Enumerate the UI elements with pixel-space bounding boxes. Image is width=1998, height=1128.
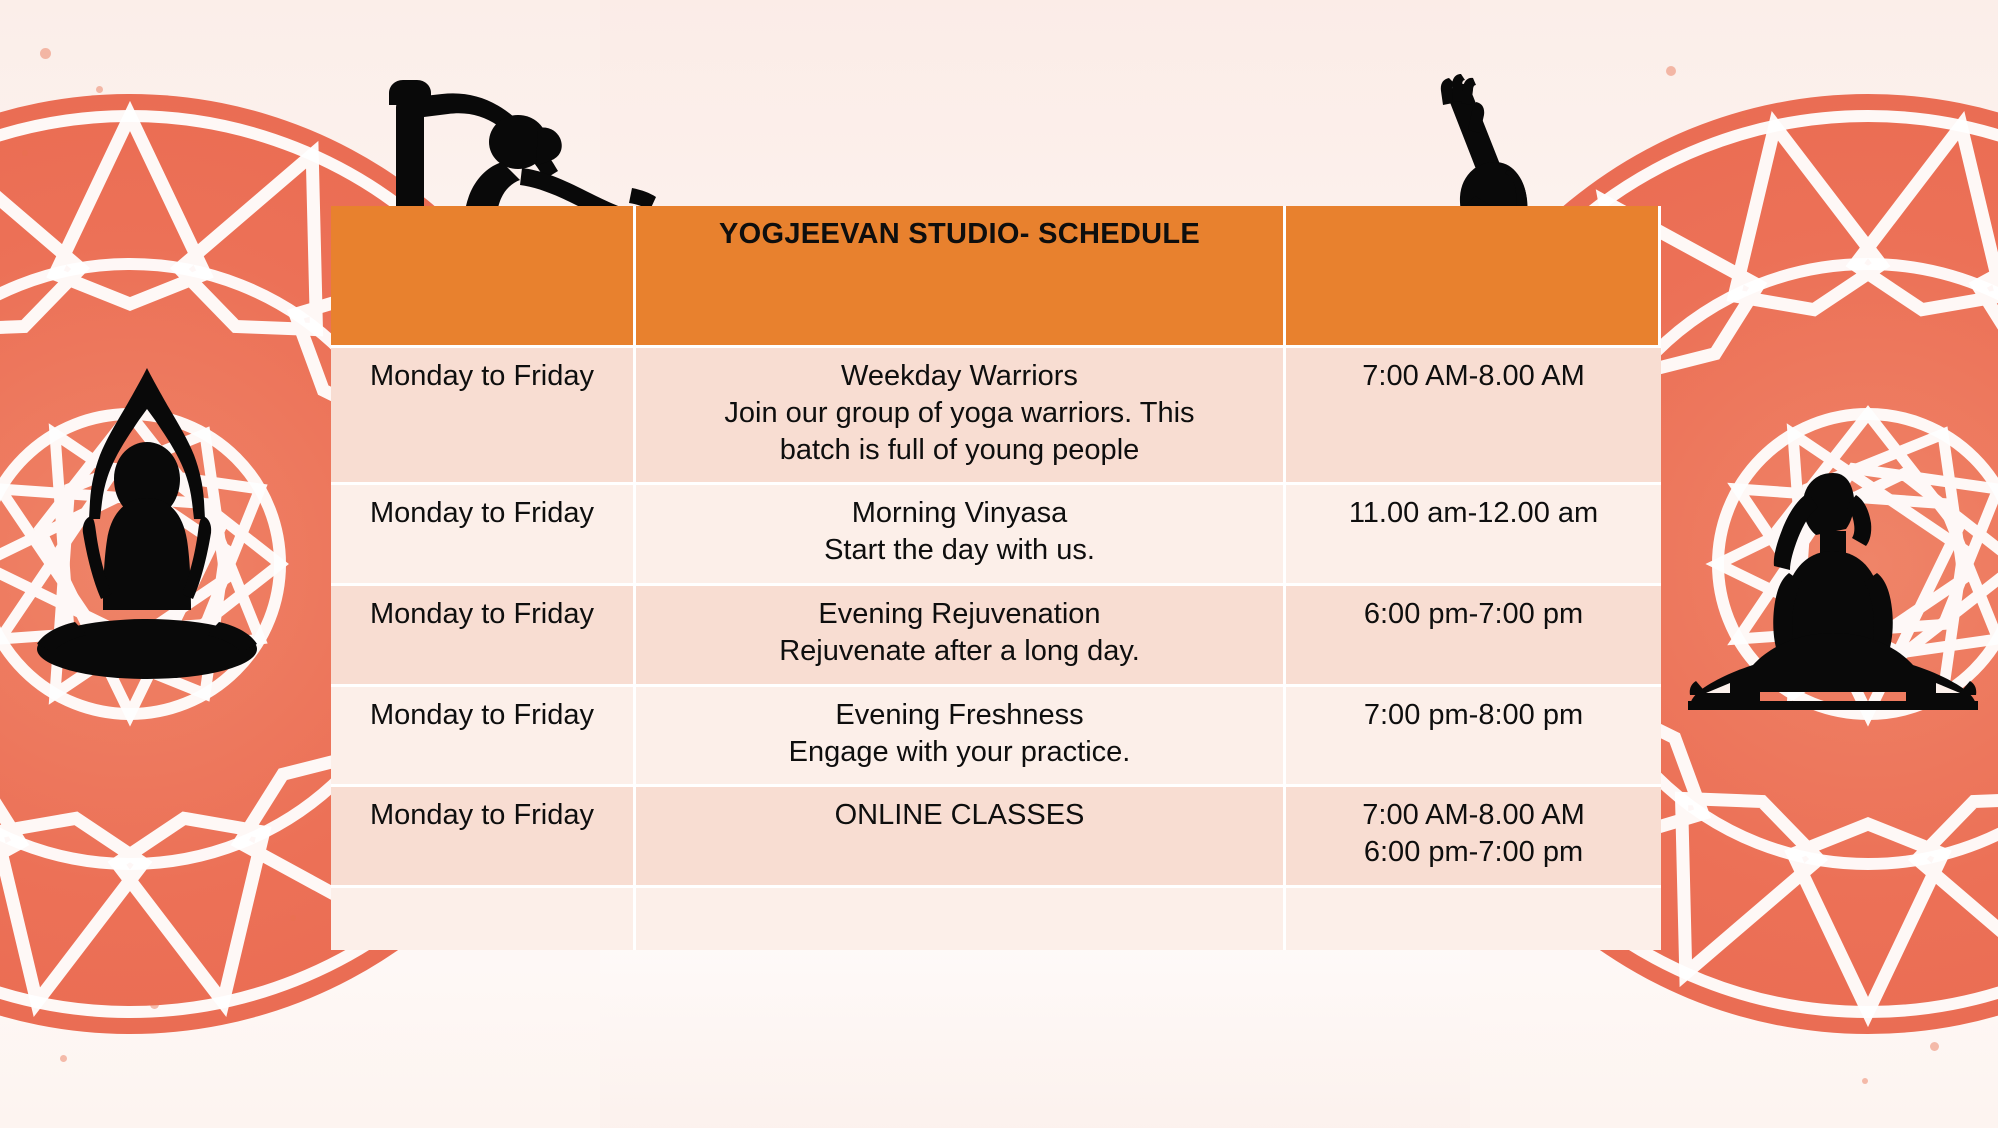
- table-row-empty: [331, 888, 1661, 950]
- class-description-line1: Engage with your practice.: [644, 734, 1275, 771]
- class-name: Morning Vinyasa: [644, 495, 1275, 532]
- row-time: 7:00 AM-8.00 AM 6:00 pm-7:00 pm: [1286, 787, 1661, 888]
- row-description: Evening Rejuvenation Rejuvenate after a …: [636, 586, 1286, 687]
- schedule-poster: YOGJEEVAN STUDIO- SCHEDULE Monday to Fri…: [0, 0, 1998, 1128]
- time-primary: 11.00 am-12.00 am: [1294, 495, 1653, 532]
- time-primary: 7:00 AM-8.00 AM: [1294, 358, 1653, 395]
- row-day: Monday to Friday: [331, 348, 636, 485]
- row-time: 7:00 pm-8:00 pm: [1286, 687, 1661, 788]
- table-row: Monday to Friday ONLINE CLASSES 7:00 AM-…: [331, 787, 1661, 888]
- table-row: Monday to Friday Weekday Warriors Join o…: [331, 348, 1661, 485]
- row-description: Weekday Warriors Join our group of yoga …: [636, 348, 1286, 485]
- row-time: 6:00 pm-7:00 pm: [1286, 586, 1661, 687]
- row-time: 7:00 AM-8.00 AM: [1286, 348, 1661, 485]
- table-row: Monday to Friday Morning Vinyasa Start t…: [331, 485, 1661, 586]
- class-name: Weekday Warriors: [644, 358, 1275, 395]
- row-day: [331, 888, 636, 950]
- time-primary: 7:00 pm-8:00 pm: [1294, 697, 1653, 734]
- class-description-line1: Rejuvenate after a long day.: [644, 633, 1275, 670]
- speckle-dot: [1666, 66, 1676, 76]
- row-time: 11.00 am-12.00 am: [1286, 485, 1661, 586]
- class-description-line2: batch is full of young people: [644, 432, 1275, 469]
- table-row: Monday to Friday Evening Rejuvenation Re…: [331, 586, 1661, 687]
- speckle-dot: [60, 1055, 67, 1062]
- class-description-line1: Join our group of yoga warriors. This: [644, 395, 1275, 432]
- speckle-dot: [22, 150, 28, 156]
- row-description: Morning Vinyasa Start the day with us.: [636, 485, 1286, 586]
- time-secondary: 6:00 pm-7:00 pm: [1294, 834, 1653, 871]
- class-name: Evening Freshness: [644, 697, 1275, 734]
- speckle-dot: [96, 86, 103, 93]
- speckle-dot: [290, 915, 296, 921]
- time-primary: 7:00 AM-8.00 AM: [1294, 797, 1653, 834]
- row-description: [636, 888, 1286, 950]
- speckle-dot: [1930, 1042, 1939, 1051]
- row-time: [1286, 888, 1661, 950]
- schedule-table: YOGJEEVAN STUDIO- SCHEDULE Monday to Fri…: [331, 206, 1661, 950]
- row-day: Monday to Friday: [331, 687, 636, 788]
- header-cell-left: [331, 206, 636, 348]
- speckle-dot: [40, 48, 51, 59]
- class-name: Evening Rejuvenation: [644, 596, 1275, 633]
- page-title: YOGJEEVAN STUDIO- SCHEDULE: [636, 206, 1286, 348]
- row-description: Evening Freshness Engage with your pract…: [636, 687, 1286, 788]
- class-name: ONLINE CLASSES: [644, 797, 1275, 834]
- table-row: Monday to Friday Evening Freshness Engag…: [331, 687, 1661, 788]
- row-day: Monday to Friday: [331, 787, 636, 888]
- row-description: ONLINE CLASSES: [636, 787, 1286, 888]
- speckle-dot: [1740, 112, 1747, 119]
- row-day: Monday to Friday: [331, 586, 636, 687]
- time-primary: 6:00 pm-7:00 pm: [1294, 596, 1653, 633]
- class-description-line1: Start the day with us.: [644, 532, 1275, 569]
- header-cell-right: [1286, 206, 1661, 348]
- row-day: Monday to Friday: [331, 485, 636, 586]
- speckle-dot: [150, 1000, 159, 1009]
- speckle-dot: [1862, 1078, 1868, 1084]
- table-header-row: YOGJEEVAN STUDIO- SCHEDULE: [331, 206, 1661, 348]
